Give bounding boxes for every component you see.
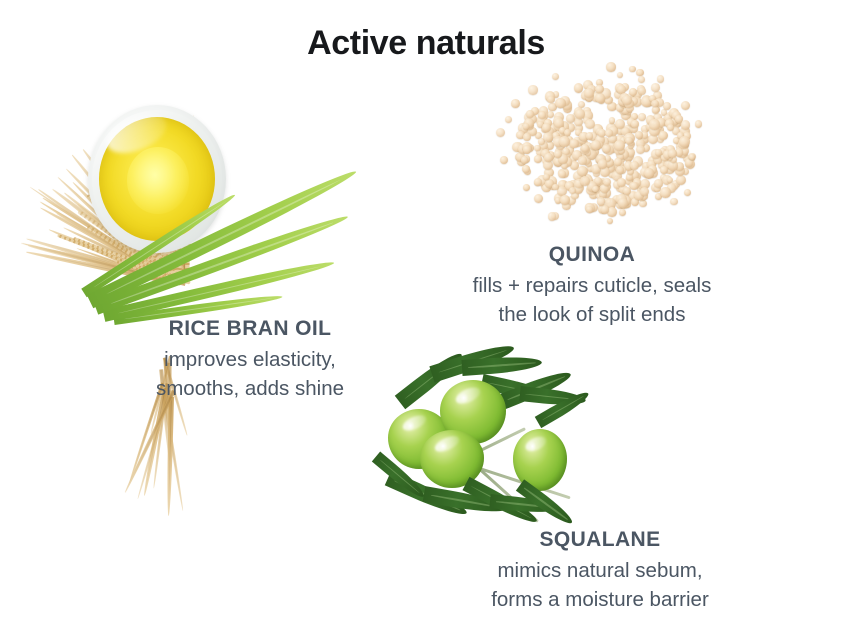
quinoa-seed [523,145,532,154]
quinoa-seed [614,140,624,150]
quinoa-seed [566,114,575,123]
ingredient-desc-line1: mimics natural sebum, [400,556,800,585]
ingredient-label-quinoa: QUINOA fills + repairs cuticle, seals th… [392,242,792,329]
quinoa-seed-scattered [496,128,505,137]
quinoa-seed [574,118,582,126]
quinoa-seed [631,120,638,127]
rice-bran-oil-image [80,58,400,313]
quinoa-seed [580,176,590,186]
quinoa-seed [564,129,571,136]
quinoa-image [505,70,705,230]
quinoa-seed [660,166,668,174]
ingredient-desc-line2: the look of split ends [392,300,792,329]
olive-gloss [523,434,548,454]
ingredient-desc-line1: fills + repairs cuticle, seals [392,271,792,300]
quinoa-seed [654,179,663,188]
quinoa-seed [523,123,530,130]
olive-gloss [433,433,461,454]
quinoa-seed [603,178,611,186]
quinoa-seed [591,140,601,150]
quinoa-seed [598,159,607,168]
quinoa-seed-scattered [695,120,703,128]
quinoa-seed [638,113,646,121]
quinoa-seed [543,174,550,181]
quinoa-seed [605,129,613,137]
quinoa-seed-scattered [681,101,690,110]
quinoa-seed-scattered [607,218,614,225]
quinoa-seed [575,109,585,119]
quinoa-seed [602,144,611,153]
quinoa-seed [558,170,566,178]
quinoa-seed-scattered [617,72,623,78]
quinoa-seed [542,123,551,132]
quinoa-seed-scattered [657,75,665,83]
quinoa-seed-scattered [684,189,691,196]
quinoa-seed [543,132,553,142]
quinoa-seed [651,100,658,107]
ingredient-label-squalane: SQUALANE mimics natural sebum, forms a m… [400,527,800,614]
quinoa-seed [619,209,626,216]
quinoa-seed [523,133,531,141]
quinoa-seed [534,145,541,152]
oil-highlight [127,147,190,214]
quinoa-seed [625,137,632,144]
quinoa-seed [655,149,662,156]
olive-gloss [453,384,482,407]
quinoa-seed [534,155,541,162]
quinoa-seed [640,187,649,196]
quinoa-seed [547,96,555,104]
quinoa-seed [597,197,605,205]
quinoa-seed [681,120,690,129]
quinoa-seed-scattered [629,66,636,73]
quinoa-seed [544,153,553,162]
quinoa-seed [630,182,638,190]
quinoa-seed [676,175,686,185]
quinoa-seed [636,145,645,154]
olive-gloss [400,413,428,434]
quinoa-seed [630,161,639,170]
quinoa-seed-scattered [651,83,660,92]
quinoa-seed [522,165,530,173]
ingredient-desc-line2: forms a moisture barrier [400,585,800,614]
quinoa-seed [622,95,632,105]
oil-bowl-graphic [88,105,226,253]
quinoa-seed [521,156,528,163]
quinoa-seed-scattered [528,85,537,94]
quinoa-seed-scattered [552,73,559,80]
quinoa-seed-scattered [606,62,615,71]
quinoa-seed [586,132,594,140]
quinoa-seed-scattered [638,76,645,83]
quinoa-seed-scattered [500,156,508,164]
quinoa-seed-scattered [523,184,530,191]
active-naturals-infographic: Active naturals [0,0,852,639]
ingredient-desc-line1: improves elasticity, [48,345,452,374]
quinoa-seed [560,195,570,205]
quinoa-seed [581,144,589,152]
quinoa-seed [667,124,674,131]
quinoa-seed-scattered [534,194,543,203]
ingredient-name: SQUALANE [400,527,800,553]
quinoa-seed [601,205,610,214]
quinoa-seed [526,110,534,118]
ingredient-desc-line2: smooths, adds shine [48,374,452,403]
quinoa-seed [618,198,628,208]
quinoa-seed [679,136,690,147]
quinoa-seed-scattered [670,198,678,206]
quinoa-seed [595,85,603,93]
quinoa-seed [668,149,677,158]
quinoa-seed-scattered [511,99,520,108]
quinoa-seed [660,187,671,198]
ingredient-name: QUINOA [392,242,792,268]
quinoa-seed [649,119,659,129]
quinoa-seed-scattered [505,116,512,123]
quinoa-seed [559,136,570,147]
quinoa-seed-scattered [548,212,556,220]
